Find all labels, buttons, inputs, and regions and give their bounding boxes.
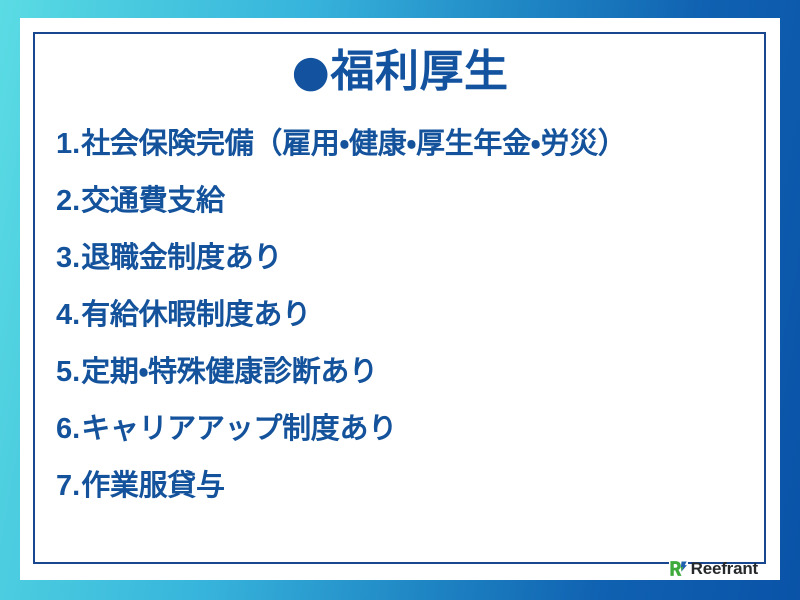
list-item-number: 6. [56,411,80,447]
page-title: ●福利厚生 [0,46,800,98]
list-item-label: 退職金制度あり [81,239,282,275]
list-item-number: 1. [56,126,80,162]
list-item: 5. 定期・特殊健康診断あり [56,353,756,410]
reefrant-r-logo-icon [669,559,688,578]
list-item: 6. キャリアアップ制度あり [56,410,756,467]
brand-logo: Reefrant [669,559,758,578]
list-item-label: 有給休暇制度あり [81,296,311,332]
benefits-list: 1. 社会保険完備（雇用・健康・厚生年金・労災） 2. 交通費支給 3. 退職金… [56,125,756,524]
list-item: 1. 社会保険完備（雇用・健康・厚生年金・労災） [56,125,756,182]
list-item-label: キャリアアップ制度あり [81,410,397,446]
title-bullet-icon: ● [292,46,331,97]
list-item-number: 3. [56,240,80,276]
brand-name: Reefrant [691,559,758,578]
slide-canvas: ●福利厚生 1. 社会保険完備（雇用・健康・厚生年金・労災） 2. 交通費支給 … [0,0,800,600]
list-item-number: 5. [56,354,80,390]
list-item-number: 2. [56,183,80,219]
list-item: 3. 退職金制度あり [56,239,756,296]
list-item-label: 交通費支給 [81,182,225,218]
list-item: 2. 交通費支給 [56,182,756,239]
list-item-label: 作業服貸与 [81,467,225,503]
list-item-label: 社会保険完備（雇用・健康・厚生年金・労災） [81,125,626,161]
list-item-number: 7. [56,468,80,504]
list-item: 4. 有給休暇制度あり [56,296,756,353]
list-item: 7. 作業服貸与 [56,467,756,524]
title-text: 福利厚生 [330,46,508,97]
list-item-label: 定期・特殊健康診断あり [81,353,378,389]
list-item-number: 4. [56,297,80,333]
